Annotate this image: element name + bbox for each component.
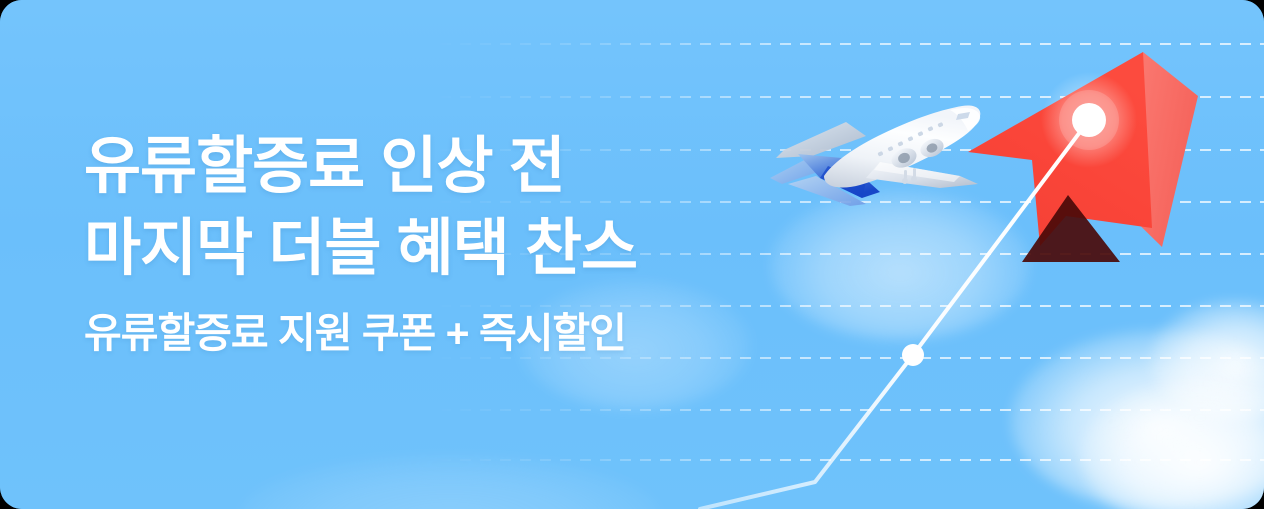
subline: 유류할증료 지원 쿠폰 + 즉시할인 [84, 308, 744, 359]
headline-line-2: 마지막 더블 혜택 찬스 [84, 208, 744, 290]
banner-copy: 유류할증료 인상 전 마지막 더블 혜택 찬스 유류할증료 지원 쿠폰 + 즉시… [84, 126, 744, 359]
promo-banner: 유류할증료 인상 전 마지막 더블 혜택 찬스 유류할증료 지원 쿠폰 + 즉시… [0, 0, 1264, 509]
headline-line-1: 유류할증료 인상 전 [84, 126, 744, 208]
